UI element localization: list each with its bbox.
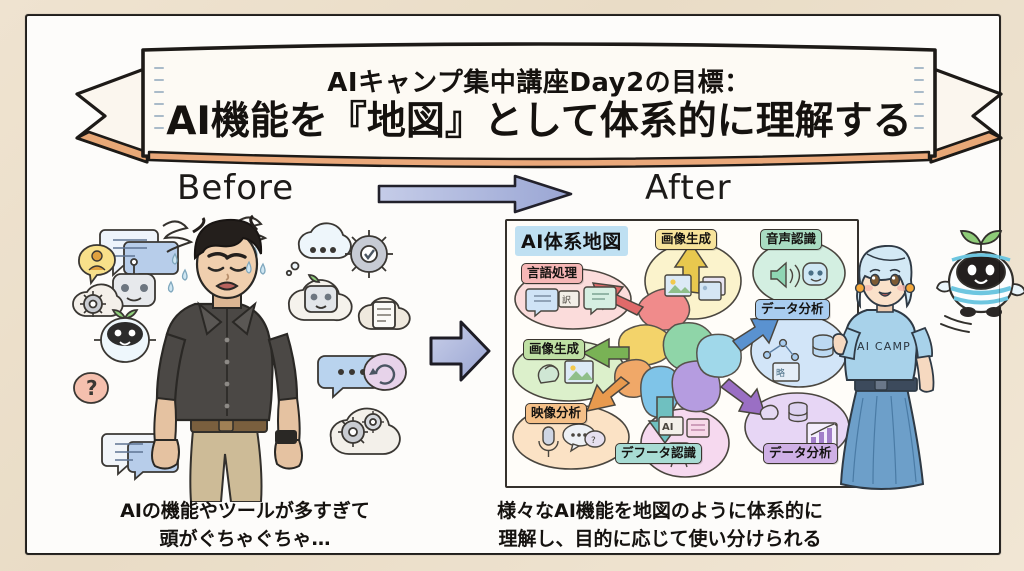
before-label: Before [177, 168, 294, 208]
after-caption: 様々なAI機能を地図のように体系的に 理解し、目的に応じて使い分けられる [465, 498, 855, 553]
map-node-chip-7: データ分析 [763, 443, 838, 464]
svg-text:略: 略 [776, 367, 785, 379]
svg-text:?: ? [591, 436, 596, 446]
map-node-chip-6: デフータ認識 [615, 443, 702, 464]
map-node-chip-1: 画像生成 [655, 229, 717, 250]
before-caption: AIの機能やツールが多すぎて 頭がぐちゃぐちゃ… [75, 498, 415, 553]
svg-text:AI: AI [662, 422, 673, 433]
shirt-text: AI CAMP [857, 340, 911, 353]
arrow-right-icon [375, 174, 575, 214]
map-title: AI体系地図 [515, 226, 628, 256]
arrow-right-icon [427, 316, 493, 386]
ai-map-panel: 訳 [505, 219, 859, 488]
before-caption-line1: AIの機能やツールが多すぎて [75, 498, 415, 526]
slide-frame: AIキャンプ集中講座Day2の目標： AI機能を『地図』として体系的に理解する … [25, 14, 1001, 555]
after-caption-line1: 様々なAI機能を地図のように体系的に [465, 498, 855, 526]
svg-text:訳: 訳 [562, 294, 571, 306]
map-node-chip-5: 映像分析 [525, 403, 587, 424]
slide-canvas: AIキャンプ集中講座Day2の目標： AI機能を『地図』として体系的に理解する … [0, 0, 1024, 571]
sprout-robot-mascot [935, 226, 1024, 334]
map-node-chip-2: 音声認識 [760, 229, 822, 250]
title-ribbon: AIキャンプ集中講座Day2の目標： AI機能を『地図』として体系的に理解する [71, 34, 1007, 174]
map-node-chip-3: データ分析 [755, 299, 830, 320]
before-illustration: ? [67, 212, 427, 502]
ai-camp-girl: AI CAMP [833, 238, 939, 500]
map-node-chip-0: 言語処理 [521, 263, 583, 284]
before-caption-line2: 頭がぐちゃぐちゃ… [75, 526, 415, 554]
map-node-chip-4: 画像生成 [523, 339, 585, 360]
after-caption-line2: 理解し、目的に応じて使い分けられる [465, 526, 855, 554]
svg-text:?: ? [86, 376, 98, 400]
after-label: After [645, 168, 732, 208]
